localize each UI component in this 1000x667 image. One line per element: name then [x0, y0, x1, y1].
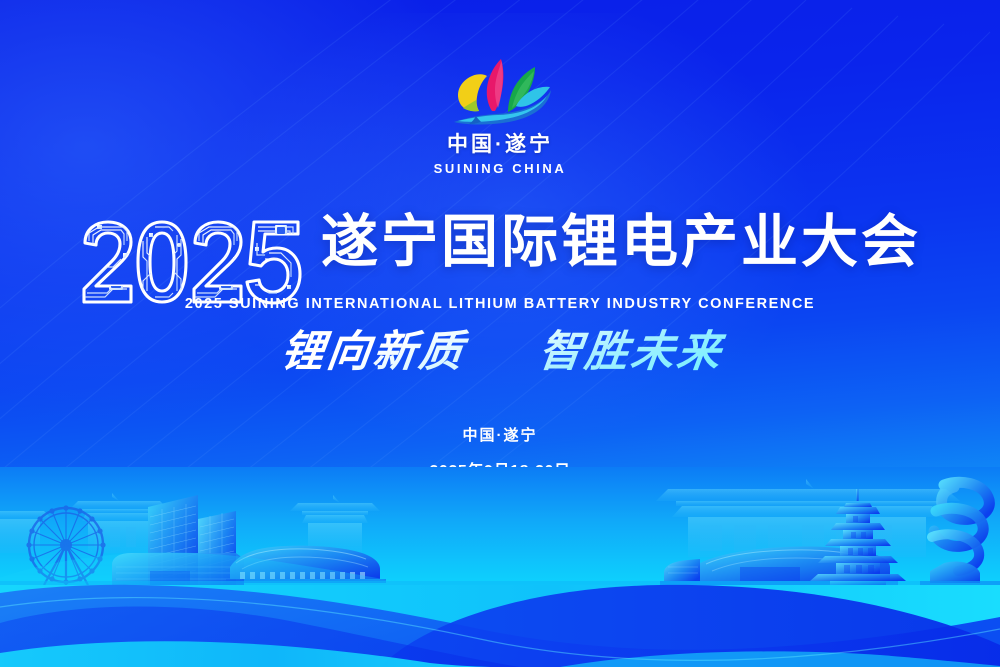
- event-logo: 中国·遂宁 SUINING CHINA: [0, 48, 1000, 175]
- city-skyline-scene: [0, 467, 1000, 667]
- logo-english-text: SUINING CHINA: [434, 162, 567, 175]
- pagoda-gate-silhouette-3: [656, 479, 960, 557]
- conference-title-chinese: 遂宁国际锂电产业大会: [321, 215, 921, 270]
- conference-banner: 中国·遂宁 SUINING CHINA: [0, 0, 1000, 667]
- suining-butterfly-logo-icon: [446, 48, 554, 126]
- conference-title-english: 2025 SUINING INTERNATIONAL LITHIUM BATTE…: [0, 296, 1000, 312]
- slogan-right-calligraphy: 智胜未来: [529, 320, 729, 382]
- svg-text:锂向新质: 锂向新质: [278, 328, 471, 376]
- logo-chinese-text: 中国·遂宁: [447, 134, 553, 155]
- svg-text:智胜未来: 智胜未来: [536, 328, 728, 376]
- event-location: 中国·遂宁: [0, 428, 1000, 443]
- event-slogan: 锂向新质 智胜未来: [0, 320, 1000, 382]
- main-title-row: 遂宁国际锂电产业大会: [0, 215, 1000, 309]
- slogan-left-calligraphy: 锂向新质: [271, 320, 471, 382]
